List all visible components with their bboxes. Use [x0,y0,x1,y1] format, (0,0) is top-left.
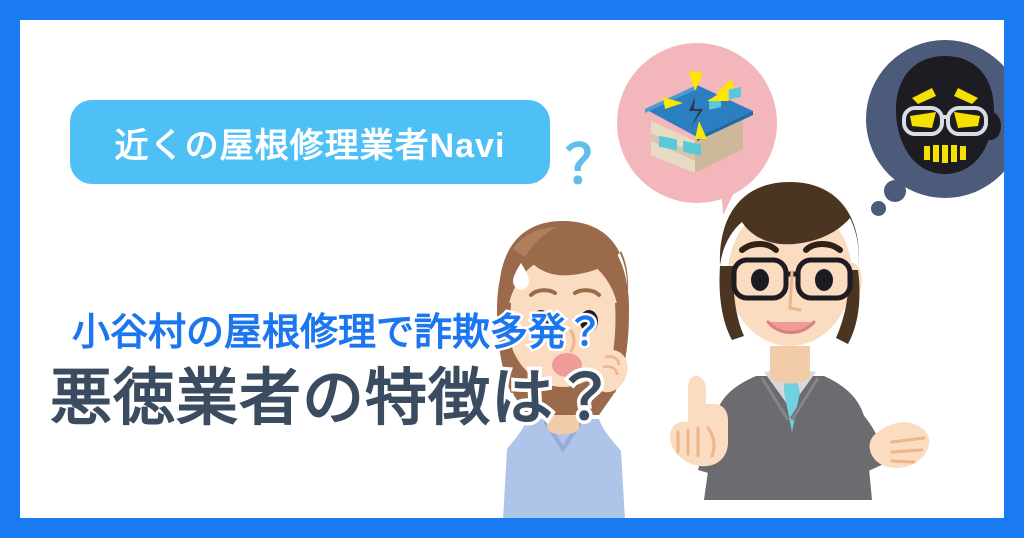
question-mark-decoration: ？ [565,138,619,192]
content-area: 近くの屋根修理業者Navi ？ 小谷村の屋根修理で詐欺多発？ 悪徳業者の特徴は？ [20,20,1004,518]
headline-subtitle: 小谷村の屋根修理で詐欺多発？ [72,310,730,358]
thumbnail-canvas: 近くの屋根修理業者Navi ？ 小谷村の屋根修理で詐欺多発？ 悪徳業者の特徴は？ [0,0,1024,538]
brand-badge[interactable]: 近くの屋根修理業者Navi [70,100,550,184]
brand-badge-label: 近くの屋根修理業者Navi [115,118,506,167]
headline-block: 小谷村の屋根修理で詐欺多発？ 悪徳業者の特徴は？ [50,310,730,436]
villain-face-icon [882,54,1004,182]
damaged-house-icon [637,61,761,179]
headline-title: 悪徳業者の特徴は？ [50,362,730,436]
